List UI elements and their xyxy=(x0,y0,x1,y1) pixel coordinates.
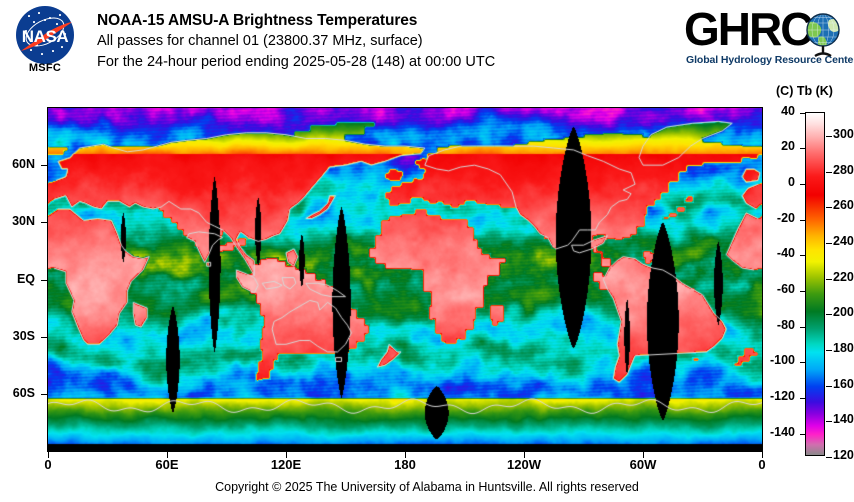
colorbar-tick-kelvin xyxy=(826,350,832,351)
copyright-notice: Copyright © 2025 The University of Alaba… xyxy=(0,480,854,494)
colorbar-tick-kelvin xyxy=(826,136,832,137)
page-title: NOAA-15 AMSU-A Brightness Temperatures xyxy=(97,10,495,31)
colorbar[interactable] xyxy=(805,112,825,456)
longitude-tick xyxy=(167,452,168,458)
longitude-tick xyxy=(524,452,525,458)
longitude-tick xyxy=(762,452,763,458)
latitude-tick xyxy=(41,165,47,166)
colorbar-header: (C) Tb (K) xyxy=(776,84,833,98)
colorbar-label-kelvin: 240 xyxy=(833,234,854,248)
latitude-tick xyxy=(41,394,47,395)
ghrc-logo: GHRC Global Hydrology Resource Center xyxy=(684,6,848,72)
latitude-tick xyxy=(41,337,47,338)
colorbar-label-kelvin: 160 xyxy=(833,377,854,391)
colorbar-label-kelvin: 200 xyxy=(833,305,854,319)
colorbar-tick-celsius xyxy=(800,434,806,435)
colorbar-label-kelvin: 260 xyxy=(833,198,854,212)
longitude-tick xyxy=(405,452,406,458)
colorbar-tick-celsius xyxy=(800,148,806,149)
ghrc-tagline: Global Hydrology Resource Center xyxy=(686,54,854,66)
latitude-label: 60N xyxy=(0,157,35,171)
latitude-tick xyxy=(41,222,47,223)
colorbar-tick-celsius xyxy=(800,184,806,185)
colorbar-tick-celsius xyxy=(800,362,806,363)
colorbar-tick-kelvin xyxy=(826,457,832,458)
globe-icon xyxy=(799,11,847,59)
longitude-label: 180 xyxy=(394,457,416,472)
colorbar-tick-celsius xyxy=(800,113,806,114)
ghrc-wordmark: GHRC xyxy=(684,6,811,52)
colorbar-label-kelvin: 140 xyxy=(833,412,854,426)
colorbar-label-celsius: -20 xyxy=(759,211,795,225)
colorbar-label-kelvin: 220 xyxy=(833,270,854,284)
longitude-label: 0 xyxy=(44,457,51,472)
nasa-wordmark: NASA xyxy=(16,27,74,47)
colorbar-label-celsius: -60 xyxy=(759,282,795,296)
longitude-label: 120W xyxy=(507,457,541,472)
colorbar-tick-celsius xyxy=(800,291,806,292)
colorbar-label-celsius: -100 xyxy=(759,353,795,367)
colorbar-tick-kelvin xyxy=(826,279,832,280)
longitude-tick xyxy=(48,452,49,458)
colorbar-tick-celsius xyxy=(800,220,806,221)
colorbar-tick-celsius xyxy=(800,327,806,328)
colorbar-tick-kelvin xyxy=(826,172,832,173)
colorbar-tick-kelvin xyxy=(826,421,832,422)
colorbar-label-celsius: -120 xyxy=(759,389,795,403)
longitude-tick xyxy=(643,452,644,458)
latitude-label: 60S xyxy=(0,386,35,400)
colorbar-label-celsius: -140 xyxy=(759,425,795,439)
latitude-label: EQ xyxy=(0,272,35,286)
latitude-label: 30N xyxy=(0,214,35,228)
page-subtitle-period: For the 24-hour period ending 2025-05-28… xyxy=(97,52,495,73)
longitude-label: 0 xyxy=(758,457,765,472)
colorbar-label-kelvin: 300 xyxy=(833,127,854,141)
colorbar-tick-kelvin xyxy=(826,386,832,387)
colorbar-label-kelvin: 280 xyxy=(833,163,854,177)
colorbar-label-kelvin: 180 xyxy=(833,341,854,355)
brightness-temperature-map[interactable] xyxy=(47,107,763,452)
latitude-tick xyxy=(41,280,47,281)
colorbar-label-celsius: -40 xyxy=(759,246,795,260)
longitude-label: 60E xyxy=(155,457,178,472)
msfc-label: MSFC xyxy=(6,62,84,74)
colorbar-label-celsius: 40 xyxy=(759,104,795,118)
colorbar-tick-celsius xyxy=(800,398,806,399)
title-block: NOAA-15 AMSU-A Brightness Temperatures A… xyxy=(97,10,495,73)
colorbar-label-celsius: 20 xyxy=(759,139,795,153)
colorbar-tick-kelvin xyxy=(826,314,832,315)
page-subtitle-channel: All passes for channel 01 (23800.37 MHz,… xyxy=(97,31,495,52)
colorbar-tick-celsius xyxy=(800,255,806,256)
nasa-logo: NASA MSFC xyxy=(6,4,84,78)
colorbar-tick-kelvin xyxy=(826,207,832,208)
colorbar-label-celsius: 0 xyxy=(759,175,795,189)
latitude-label: 30S xyxy=(0,329,35,343)
colorbar-label-celsius: -80 xyxy=(759,318,795,332)
longitude-label: 120E xyxy=(271,457,301,472)
nasa-meatball-circle: NASA xyxy=(16,6,74,64)
colorbar-tick-kelvin xyxy=(826,243,832,244)
map-raster xyxy=(48,108,762,451)
longitude-tick xyxy=(286,452,287,458)
colorbar-gradient xyxy=(806,113,824,455)
longitude-label: 60W xyxy=(630,457,657,472)
colorbar-label-kelvin: 120 xyxy=(833,448,854,462)
